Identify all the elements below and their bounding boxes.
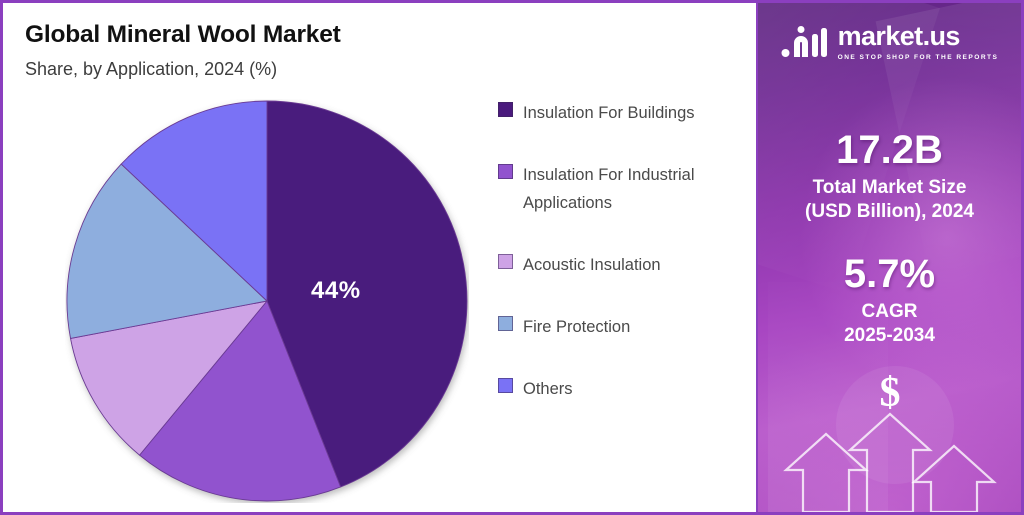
brand-logo[interactable]: market.us ONE STOP SHOP FOR THE REPORTS (758, 23, 1021, 61)
pie-chart-svg (65, 99, 469, 503)
key-stats: 17.2B Total Market Size (USD Billion), 2… (758, 129, 1021, 348)
page-title: Global Mineral Wool Market (25, 21, 341, 49)
cagr-value: 5.7% (758, 253, 1021, 295)
legend-swatch-icon (498, 378, 513, 393)
growth-arrows-art: $ (758, 372, 1021, 512)
pie-slice-group (67, 101, 467, 501)
pie-chart: 44% (65, 99, 469, 503)
up-arrow-icon (850, 414, 930, 512)
market-size-value: 17.2B (758, 129, 1021, 171)
chart-heading: Global Mineral Wool Market Share, by App… (25, 21, 341, 80)
brand-tagline: ONE STOP SHOP FOR THE REPORTS (838, 54, 999, 61)
legend-item-insulation-for-industrial-applications[interactable]: Insulation For Industrial Applications (498, 161, 748, 217)
up-arrow-icon (914, 446, 994, 512)
legend-item-label: Insulation For Industrial Applications (523, 161, 748, 217)
legend-item-label: Acoustic Insulation (523, 251, 661, 279)
legend-item-insulation-for-buildings[interactable]: Insulation For Buildings (498, 99, 748, 127)
market-infographic: Global Mineral Wool Market Share, by App… (0, 0, 1024, 515)
chart-panel: Global Mineral Wool Market Share, by App… (3, 3, 756, 512)
legend-item-label: Insulation For Buildings (523, 99, 695, 127)
legend-swatch-icon (498, 316, 513, 331)
market-size-caption-line-2: (USD Billion), 2024 (758, 200, 1021, 224)
legend-item-label: Fire Protection (523, 313, 630, 341)
legend-swatch-icon (498, 164, 513, 179)
legend-item-others[interactable]: Others (498, 375, 748, 403)
cagr-caption: CAGR 2025-2034 (758, 300, 1021, 349)
legend-swatch-icon (498, 102, 513, 117)
market-us-logo-icon (781, 23, 829, 61)
legend-item-label: Others (523, 375, 573, 403)
cagr-stat: 5.7% CAGR 2025-2034 (758, 253, 1021, 349)
legend-swatch-icon (498, 254, 513, 269)
brand-wordmark: market.us (838, 23, 999, 50)
market-size-caption: Total Market Size (USD Billion), 2024 (758, 176, 1021, 225)
dollar-sign-icon: $ (880, 372, 901, 416)
legend-item-fire-protection[interactable]: Fire Protection (498, 313, 748, 341)
market-size-caption-line-1: Total Market Size (758, 176, 1021, 200)
cagr-caption-line-1: CAGR (758, 300, 1021, 324)
chart-subtitle: Share, by Application, 2024 (%) (25, 59, 341, 80)
cagr-caption-line-2: 2025-2034 (758, 324, 1021, 348)
market-size-stat: 17.2B Total Market Size (USD Billion), 2… (758, 129, 1021, 225)
chart-legend: Insulation For Buildings Insulation For … (498, 99, 748, 437)
legend-item-acoustic-insulation[interactable]: Acoustic Insulation (498, 251, 748, 279)
brand-text-block: market.us ONE STOP SHOP FOR THE REPORTS (838, 23, 999, 61)
brand-stats-panel: market.us ONE STOP SHOP FOR THE REPORTS … (756, 3, 1021, 512)
